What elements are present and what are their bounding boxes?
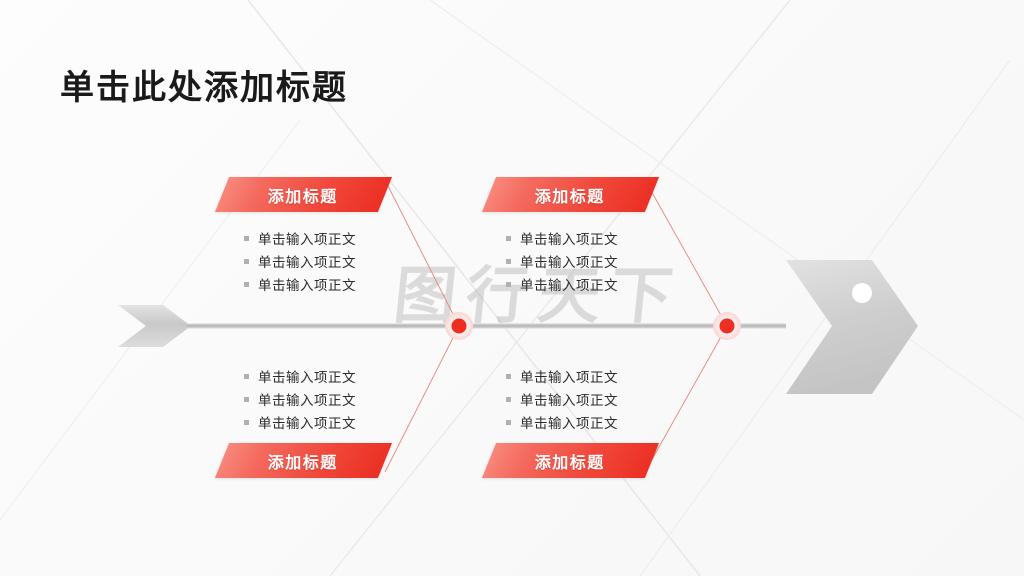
bullet-square-icon — [244, 282, 249, 287]
list-item-label: 单击输入项正文 — [520, 389, 618, 409]
list-item[interactable]: 单击输入项正文 — [506, 411, 618, 433]
bullet-square-icon — [506, 397, 511, 402]
slide-canvas: 单击此处添加标题 图行天下 — [0, 0, 1024, 576]
list-item-label: 单击输入项正文 — [520, 412, 618, 432]
list-item-label: 单击输入项正文 — [520, 274, 618, 294]
list-item[interactable]: 单击输入项正文 — [506, 227, 618, 249]
bullet-square-icon — [506, 236, 511, 241]
branch-banner-bottom-right[interactable]: 添加标题 — [482, 443, 659, 478]
list-item[interactable]: 单击输入项正文 — [506, 250, 618, 272]
branch-banner-top-left[interactable]: 添加标题 — [215, 177, 392, 212]
spine-node-2 — [720, 319, 735, 334]
list-item[interactable]: 单击输入项正文 — [244, 227, 356, 249]
rib-line-bottom-left — [385, 326, 459, 472]
bullet-square-icon — [244, 397, 249, 402]
list-item[interactable]: 单击输入项正文 — [506, 365, 618, 387]
list-item-label: 单击输入项正文 — [520, 228, 618, 248]
bullet-square-icon — [506, 259, 511, 264]
branch-items-top-left: 单击输入项正文 单击输入项正文 单击输入项正文 — [244, 227, 356, 296]
list-item-label: 单击输入项正文 — [258, 389, 356, 409]
list-item-label: 单击输入项正文 — [258, 366, 356, 386]
branch-banner-label: 添加标题 — [535, 183, 605, 207]
branch-items-bottom-left: 单击输入项正文 单击输入项正文 单击输入项正文 — [244, 365, 356, 434]
list-item-label: 单击输入项正文 — [258, 251, 356, 271]
fishbone-spine — [186, 324, 786, 329]
bullet-square-icon — [244, 236, 249, 241]
branch-banner-bottom-left[interactable]: 添加标题 — [215, 443, 392, 478]
bullet-square-icon — [244, 259, 249, 264]
list-item[interactable]: 单击输入项正文 — [506, 388, 618, 410]
branch-items-top-right: 单击输入项正文 单击输入项正文 单击输入项正文 — [506, 227, 618, 296]
list-item-label: 单击输入项正文 — [258, 412, 356, 432]
bullet-square-icon — [506, 282, 511, 287]
fishbone-tail-icon — [118, 305, 191, 347]
list-item[interactable]: 单击输入项正文 — [244, 365, 356, 387]
branch-banner-top-right[interactable]: 添加标题 — [482, 177, 659, 212]
list-item[interactable]: 单击输入项正文 — [506, 273, 618, 295]
fish-eye-icon — [852, 283, 872, 303]
branch-banner-label: 添加标题 — [535, 449, 605, 473]
bullet-square-icon — [244, 374, 249, 379]
rib-line-top-left — [385, 180, 459, 326]
fish-head-icon — [786, 260, 918, 394]
list-item[interactable]: 单击输入项正文 — [244, 388, 356, 410]
branch-items-bottom-right: 单击输入项正文 单击输入项正文 单击输入项正文 — [506, 365, 618, 434]
spine-node-1 — [452, 319, 467, 334]
list-item-label: 单击输入项正文 — [520, 251, 618, 271]
rib-line-bottom-right — [645, 326, 727, 472]
branch-banner-label: 添加标题 — [268, 449, 338, 473]
bullet-square-icon — [506, 420, 511, 425]
branch-banner-label: 添加标题 — [268, 183, 338, 207]
list-item[interactable]: 单击输入项正文 — [244, 411, 356, 433]
bullet-square-icon — [244, 420, 249, 425]
list-item-label: 单击输入项正文 — [258, 274, 356, 294]
list-item-label: 单击输入项正文 — [520, 366, 618, 386]
list-item[interactable]: 单击输入项正文 — [244, 273, 356, 295]
bullet-square-icon — [506, 374, 511, 379]
list-item[interactable]: 单击输入项正文 — [244, 250, 356, 272]
list-item-label: 单击输入项正文 — [258, 228, 356, 248]
rib-line-top-right — [645, 180, 727, 326]
